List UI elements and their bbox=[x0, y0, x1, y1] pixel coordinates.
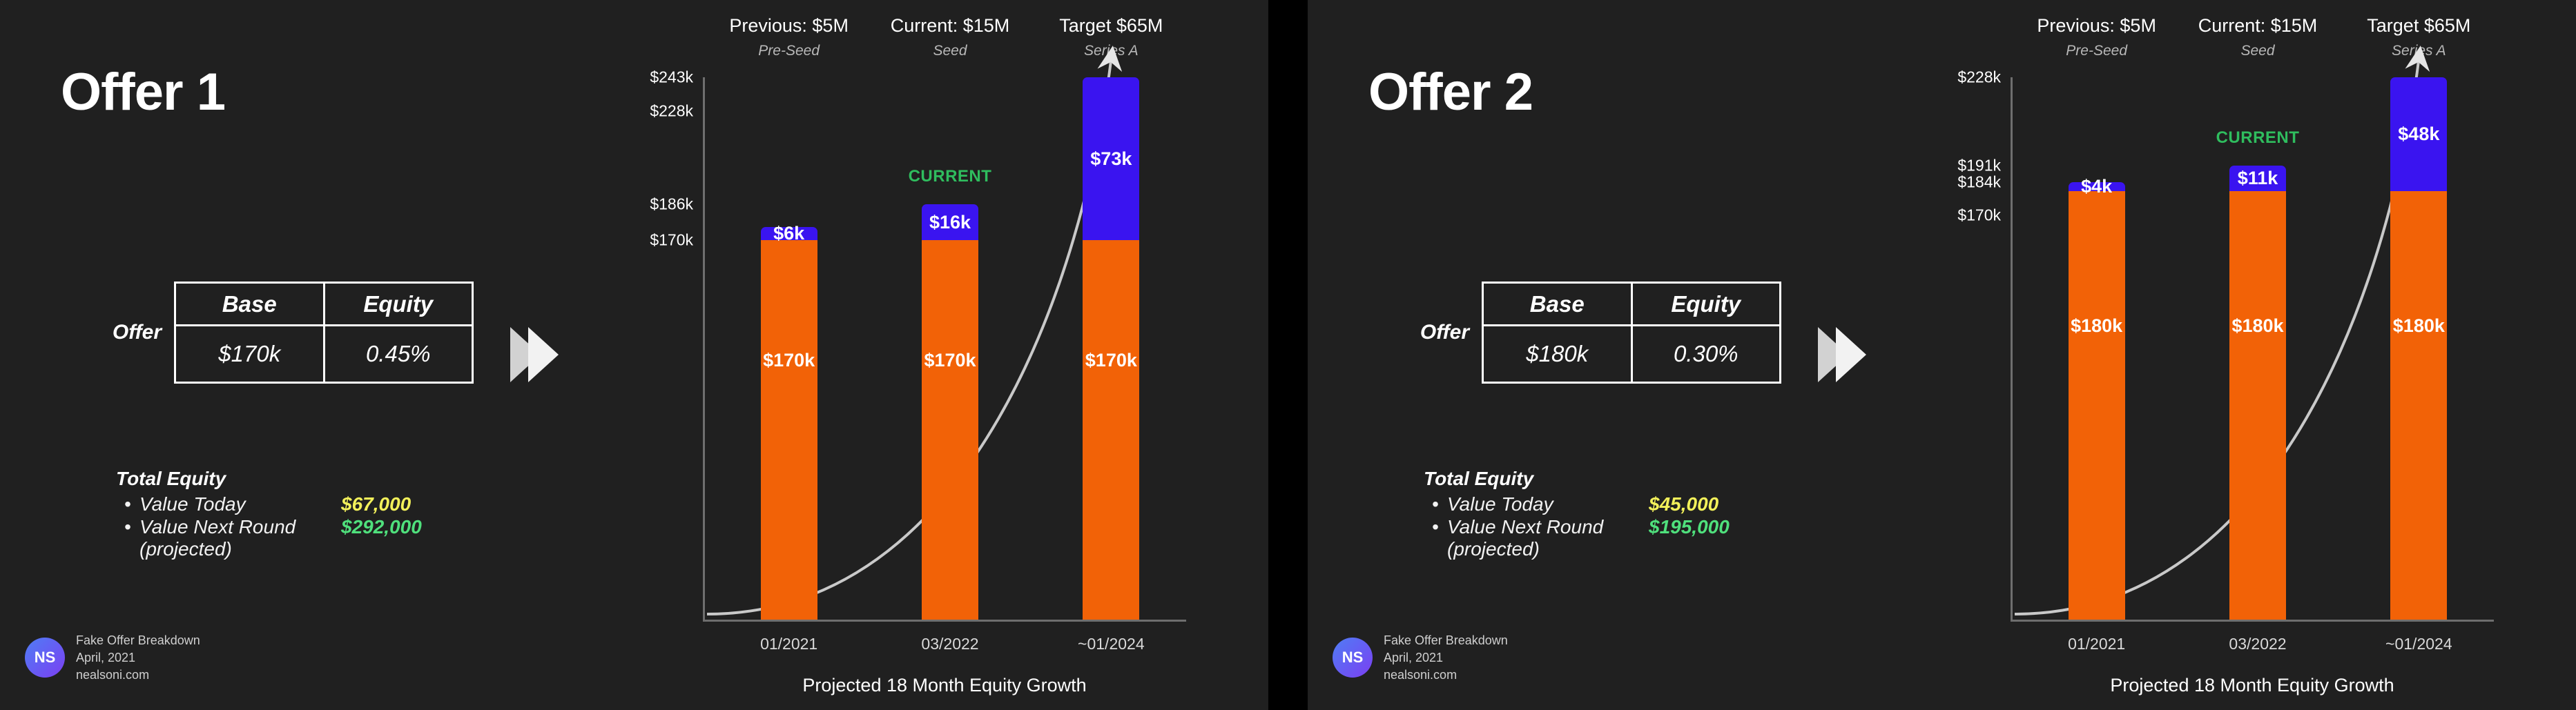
equity-item-sublabel: (projected) bbox=[116, 538, 558, 560]
offer-table-block: Offer Base Equity $180k 0.30% bbox=[1377, 282, 1832, 384]
x-axis-line bbox=[2011, 620, 2494, 622]
table-cell-base: $180k bbox=[1483, 326, 1632, 383]
panel-divider bbox=[1268, 0, 1308, 710]
bar-base-label: $180k bbox=[2231, 315, 2283, 337]
bar-base-0: $170k bbox=[761, 240, 817, 620]
bar-equity-1: $11k bbox=[2229, 166, 2286, 192]
footer-line-site[interactable]: nealsoni.com bbox=[1384, 667, 1508, 684]
bar-base-label: $170k bbox=[1085, 350, 1137, 371]
x-axis-tick: ~01/2024 bbox=[2385, 635, 2452, 653]
chart-x-axis-label: Projected 18 Month Equity Growth bbox=[2110, 675, 2394, 696]
footer-line-title: Fake Offer Breakdown bbox=[76, 632, 200, 649]
bar-equity-label: $73k bbox=[1090, 148, 1132, 170]
table-header-equity: Equity bbox=[1631, 283, 1781, 326]
y-axis-tick: $228k bbox=[1957, 68, 2001, 87]
table-row: $180k 0.30% bbox=[1483, 326, 1781, 383]
offer-table: Base Equity $170k 0.45% bbox=[174, 282, 474, 384]
y-axis-line bbox=[703, 77, 705, 620]
total-equity-heading: Total Equity bbox=[116, 468, 558, 490]
bullet-icon: • bbox=[116, 493, 139, 515]
bar-base-label: $180k bbox=[2393, 315, 2445, 337]
equity-item-value: $45,000 bbox=[1649, 493, 1718, 515]
bar-equity-0: $4k bbox=[2069, 182, 2125, 192]
table-header-row: Base Equity bbox=[175, 283, 473, 326]
footer-credit: NS Fake Offer Breakdown April, 2021 neal… bbox=[1333, 632, 1508, 683]
table-header-base: Base bbox=[1483, 283, 1632, 326]
equity-item-value: $292,000 bbox=[341, 515, 422, 538]
round-subtitle: Series A bbox=[994, 43, 1228, 59]
bar-equity-label: $48k bbox=[2398, 124, 2439, 145]
equity-growth-chart: Previous: $5M Pre-Seed Current: $15M See… bbox=[594, 7, 1250, 697]
round-subtitle: Series A bbox=[2301, 43, 2536, 59]
page-title: Offer 1 bbox=[61, 62, 225, 122]
round-header-2: Target $65M Series A bbox=[994, 15, 1228, 59]
y-axis-line bbox=[2011, 77, 2013, 620]
equity-item-value: $195,000 bbox=[1649, 515, 1730, 538]
total-equity-list: • Value Today $45,000 • Value Next Round… bbox=[1424, 493, 1866, 538]
offer-comparison-deck: Offer 1 Offer Base Equity $170k 0.45% bbox=[0, 0, 2576, 710]
list-item: • Value Next Round $292,000 bbox=[116, 515, 558, 538]
list-item: • Value Today $45,000 bbox=[1424, 493, 1866, 515]
y-axis-tick: $191k bbox=[1957, 156, 2001, 175]
bar-base-label: $180k bbox=[2071, 315, 2122, 337]
x-axis-tick: ~01/2024 bbox=[1078, 635, 1145, 653]
bar-base-label: $170k bbox=[924, 350, 976, 371]
total-equity-list: • Value Today $67,000 • Value Next Round… bbox=[116, 493, 558, 538]
bar-equity-label: $6k bbox=[773, 223, 804, 244]
x-axis-tick: 03/2022 bbox=[921, 635, 978, 653]
fast-forward-icon bbox=[507, 323, 577, 386]
table-header-base: Base bbox=[175, 283, 325, 326]
round-header-2: Target $65M Series A bbox=[2301, 15, 2536, 59]
offer-table-block: Offer Base Equity $170k 0.45% bbox=[69, 282, 525, 384]
table-cell-equity: 0.45% bbox=[324, 326, 473, 383]
y-axis-tick: $170k bbox=[1957, 206, 2001, 224]
bullet-icon: • bbox=[1424, 515, 1447, 538]
equity-item-label: Value Today bbox=[139, 493, 341, 515]
list-item: • Value Next Round $195,000 bbox=[1424, 515, 1866, 538]
x-axis-tick: 01/2021 bbox=[760, 635, 817, 653]
fast-forward-icon bbox=[1815, 323, 1884, 386]
y-axis-tick: $170k bbox=[650, 231, 693, 250]
equity-item-sublabel: (projected) bbox=[1424, 538, 1866, 560]
total-equity-block: Total Equity • Value Today $45,000 • Val… bbox=[1424, 468, 1866, 560]
footer-text: Fake Offer Breakdown April, 2021 nealson… bbox=[76, 632, 200, 683]
table-cell-base: $170k bbox=[175, 326, 325, 383]
bar-equity-label: $11k bbox=[2238, 168, 2278, 189]
bar-equity-0: $6k bbox=[761, 227, 817, 240]
avatar: NS bbox=[1333, 638, 1373, 678]
bar-equity-2: $48k bbox=[2390, 77, 2447, 191]
offer-row-label: Offer bbox=[69, 321, 174, 344]
footer-line-title: Fake Offer Breakdown bbox=[1384, 632, 1508, 649]
x-axis-tick: 03/2022 bbox=[2229, 635, 2286, 653]
equity-growth-chart: Previous: $5M Pre-Seed Current: $15M See… bbox=[1901, 7, 2557, 697]
table-header-equity: Equity bbox=[324, 283, 473, 326]
footer-line-date: April, 2021 bbox=[1384, 649, 1508, 667]
slide-offer-2: Offer 2 Offer Base Equity $180k 0.30% bbox=[1308, 0, 2576, 710]
round-title: Target $65M bbox=[2301, 15, 2536, 37]
footer-credit: NS Fake Offer Breakdown April, 2021 neal… bbox=[25, 632, 200, 683]
avatar: NS bbox=[25, 638, 65, 678]
bar-base-label: $170k bbox=[763, 350, 815, 371]
x-axis-line bbox=[703, 620, 1186, 622]
total-equity-heading: Total Equity bbox=[1424, 468, 1866, 490]
bar-base-0: $180k bbox=[2069, 191, 2125, 620]
equity-item-label: Value Next Round bbox=[139, 515, 341, 538]
footer-line-date: April, 2021 bbox=[76, 649, 200, 667]
y-axis-tick: $228k bbox=[650, 101, 693, 120]
list-item: • Value Today $67,000 bbox=[116, 493, 558, 515]
bar-equity-label: $16k bbox=[929, 212, 971, 233]
total-equity-block: Total Equity • Value Today $67,000 • Val… bbox=[116, 468, 558, 560]
bar-base-2: $170k bbox=[1083, 240, 1139, 620]
equity-item-label: Value Next Round bbox=[1447, 515, 1649, 538]
bar-equity-label: $4k bbox=[2081, 176, 2112, 197]
y-axis-tick: $184k bbox=[1957, 172, 2001, 191]
equity-item-value: $67,000 bbox=[341, 493, 411, 515]
bar-equity-1: $16k bbox=[922, 204, 978, 240]
bar-base-2: $180k bbox=[2390, 191, 2447, 620]
chart-x-axis-label: Projected 18 Month Equity Growth bbox=[802, 675, 1086, 696]
current-annotation: CURRENT bbox=[2216, 128, 2300, 148]
footer-line-site[interactable]: nealsoni.com bbox=[76, 667, 200, 684]
table-header-row: Base Equity bbox=[1483, 283, 1781, 326]
y-axis-tick: $186k bbox=[650, 195, 693, 214]
offer-table: Base Equity $180k 0.30% bbox=[1482, 282, 1781, 384]
table-row: $170k 0.45% bbox=[175, 326, 473, 383]
page-title: Offer 2 bbox=[1368, 62, 1533, 122]
round-title: Target $65M bbox=[994, 15, 1228, 37]
equity-item-label: Value Today bbox=[1447, 493, 1649, 515]
bar-base-1: $180k bbox=[2229, 191, 2286, 620]
y-axis-tick: $243k bbox=[650, 68, 693, 87]
bullet-icon: • bbox=[1424, 493, 1447, 515]
table-cell-equity: 0.30% bbox=[1631, 326, 1781, 383]
x-axis-tick: 01/2021 bbox=[2068, 635, 2125, 653]
current-annotation: CURRENT bbox=[909, 167, 992, 186]
offer-row-label: Offer bbox=[1377, 321, 1482, 344]
bar-equity-2: $73k bbox=[1083, 77, 1139, 240]
bullet-icon: • bbox=[116, 515, 139, 538]
slide-offer-1: Offer 1 Offer Base Equity $170k 0.45% bbox=[0, 0, 1268, 710]
bar-base-1: $170k bbox=[922, 240, 978, 620]
footer-text: Fake Offer Breakdown April, 2021 nealson… bbox=[1384, 632, 1508, 683]
